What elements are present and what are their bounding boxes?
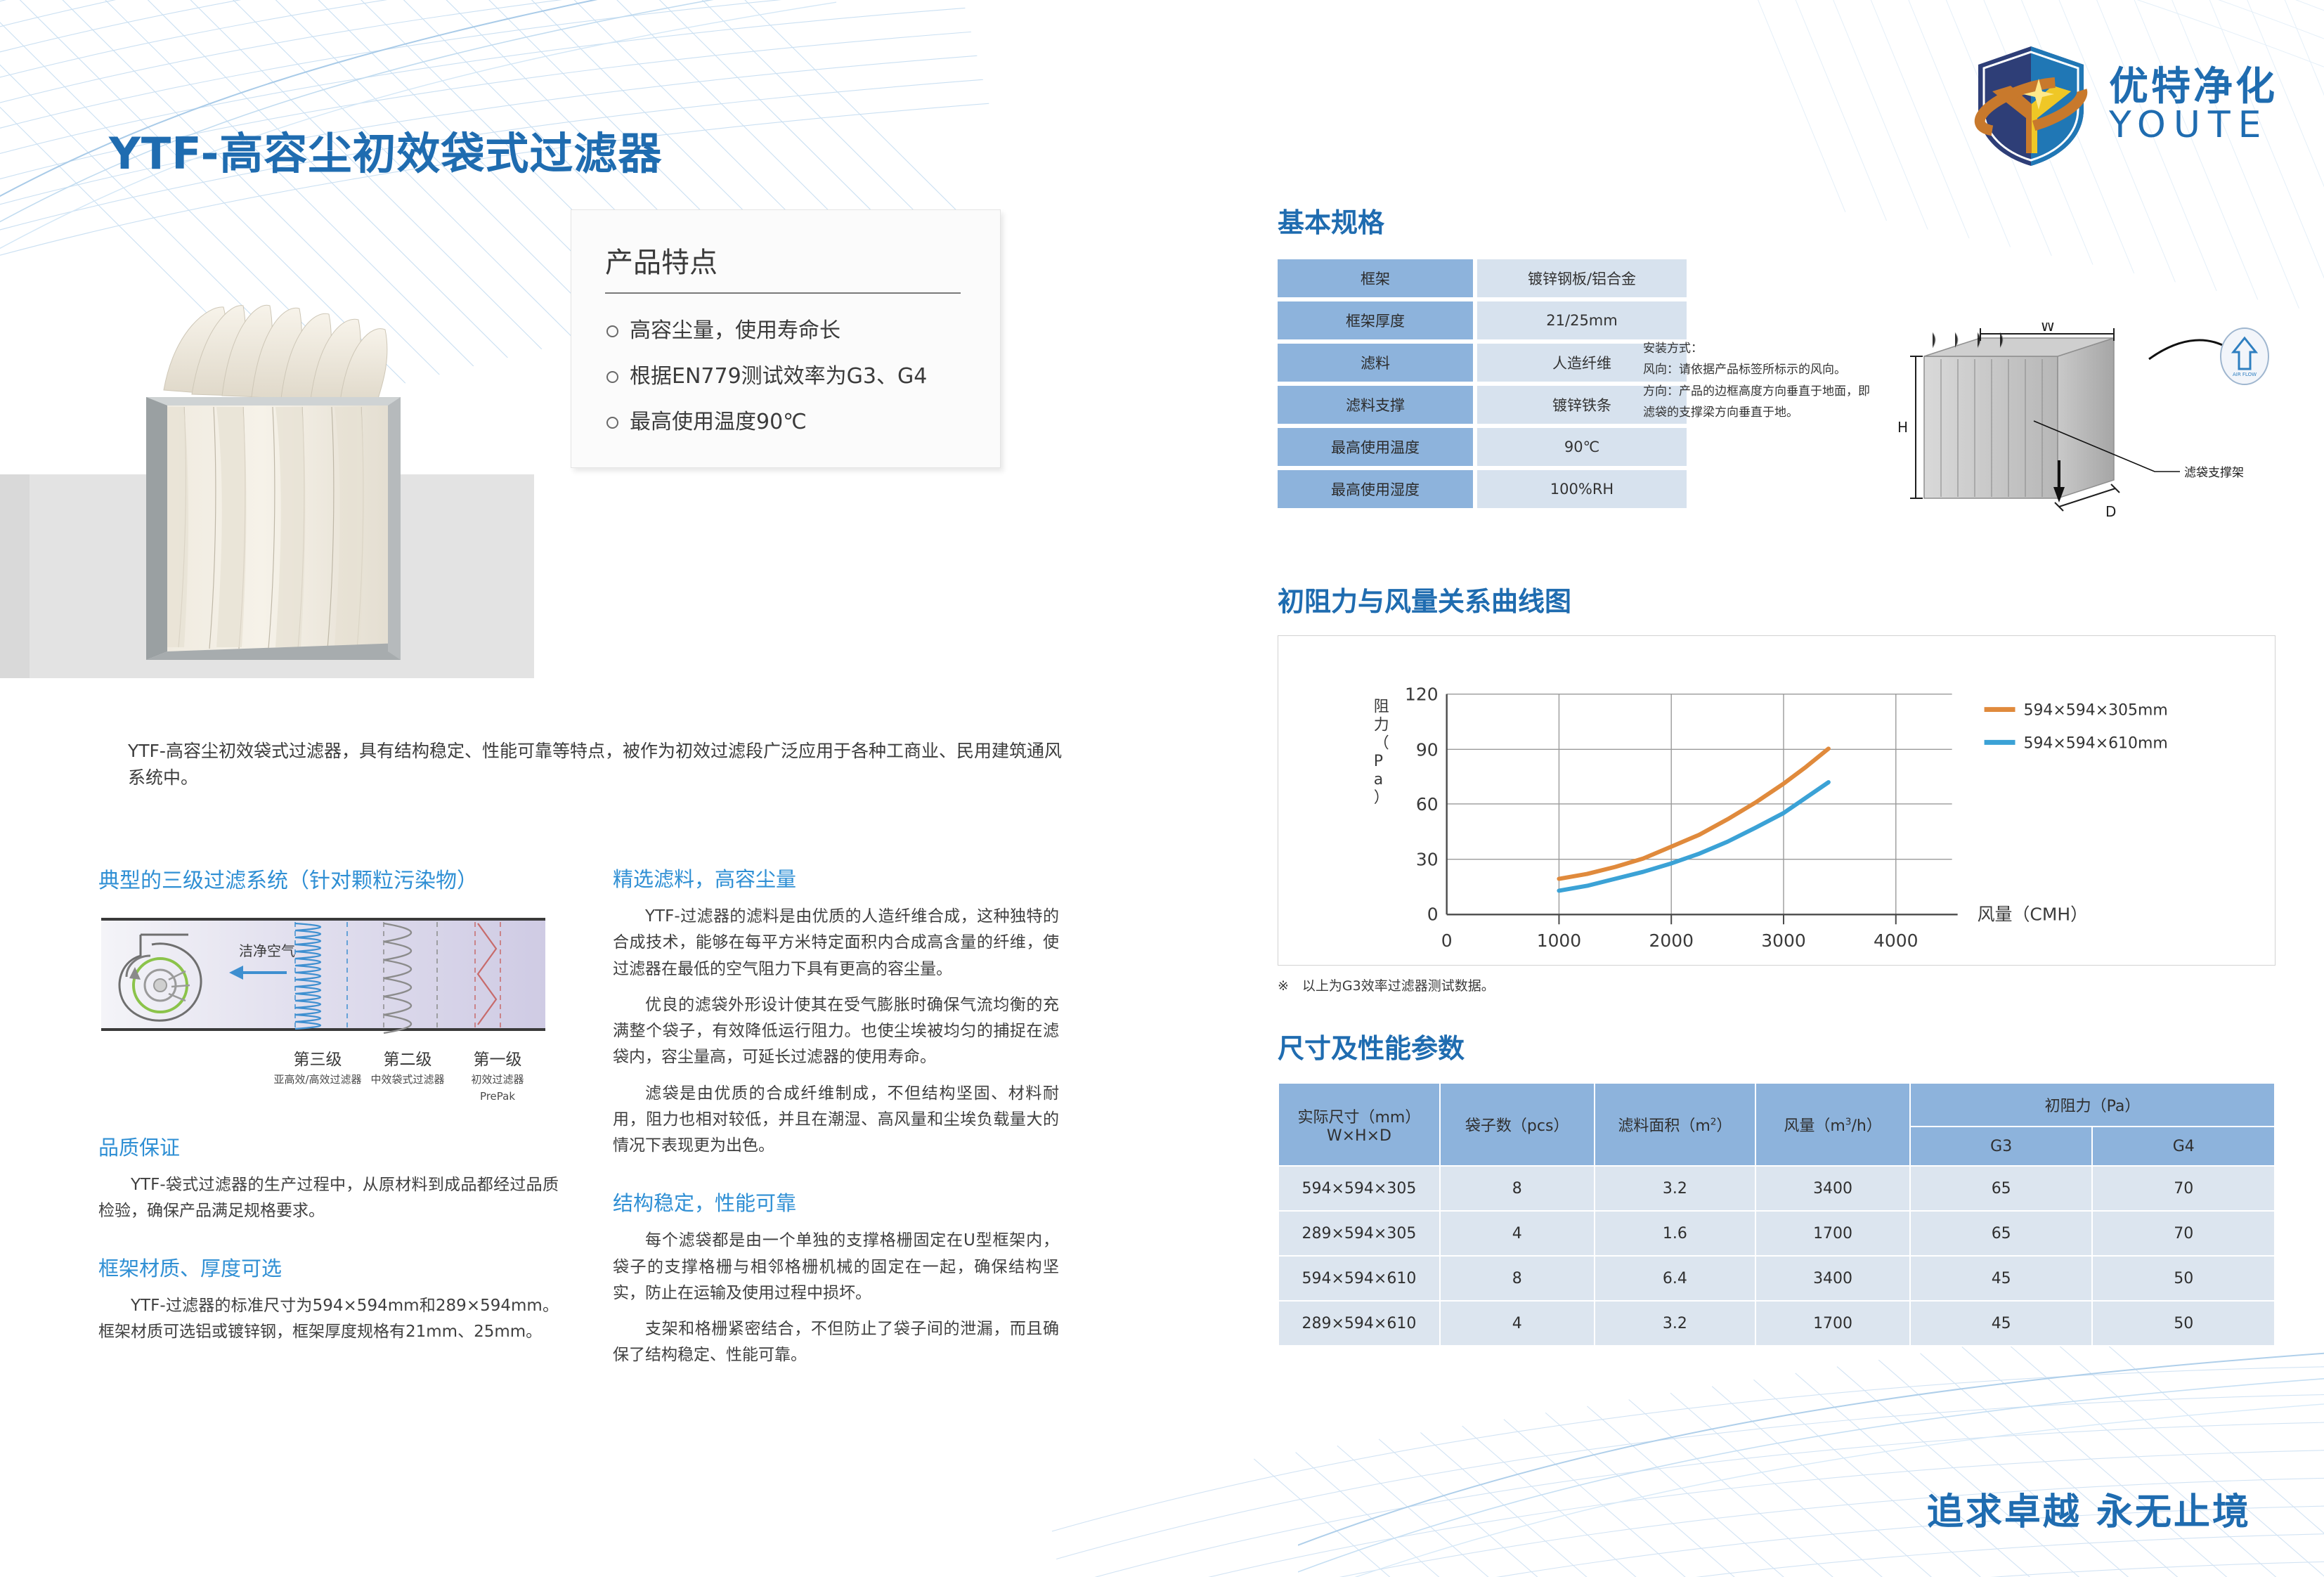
feature-text: 根据EN779测试效率为G3、G4 xyxy=(630,365,927,388)
table-row: 594×594×305 8 3.2 3400 65 70 xyxy=(1278,1166,2275,1211)
svg-text:594×594×610mm: 594×594×610mm xyxy=(2024,734,2168,752)
section-title: 结构稳定，性能可靠 xyxy=(613,1187,1059,1216)
logo-text-en: YOUTE xyxy=(2109,107,2278,144)
cell-bags: 4 xyxy=(1440,1301,1595,1346)
svg-text:0: 0 xyxy=(1441,930,1453,951)
cell-g3: 45 xyxy=(1910,1256,2093,1301)
section-media-selection: 精选滤料，高容尘量 YTF-过滤器的滤料是由优质的人造纤维合成，这种独特的合成技… xyxy=(613,863,1059,1159)
cell-size: 594×594×610 xyxy=(1278,1256,1440,1301)
cell-area: 1.6 xyxy=(1595,1211,1756,1256)
svg-text:风量（CMH）: 风量（CMH） xyxy=(1978,904,2088,924)
cell-bags: 4 xyxy=(1440,1211,1595,1256)
cell-flow: 3400 xyxy=(1755,1256,1910,1301)
spec-value: 镀锌钢板/铝合金 xyxy=(1477,259,1687,297)
cell-g4: 70 xyxy=(2092,1211,2275,1256)
install-line-airflow: 风向：请依据产品标签所标示的风向。 xyxy=(1643,359,1875,380)
cell-area: 3.2 xyxy=(1595,1166,1756,1211)
svg-text:）: ） xyxy=(1374,789,1389,807)
feature-item: 高容尘量，使用寿命长 xyxy=(606,319,1000,342)
svg-text:60: 60 xyxy=(1416,794,1439,815)
svg-text:30: 30 xyxy=(1416,850,1439,870)
th-bags: 袋子数（pcs） xyxy=(1440,1083,1595,1166)
section-title: 框架材质、厚度可选 xyxy=(98,1252,559,1282)
table-row: 框架厚度 21/25mm xyxy=(1278,301,1687,339)
th-resistance: 初阻力（Pa） xyxy=(1910,1083,2275,1127)
chart-title: 初阻力与风量关系曲线图 xyxy=(1278,580,2276,618)
svg-text:W: W xyxy=(2041,323,2055,335)
section-paragraph: YTF-过滤器的滤料是由优质的人造纤维合成，这种独特的合成技术，能够在每平方米特… xyxy=(613,904,1059,982)
cell-size: 289×594×305 xyxy=(1278,1211,1440,1256)
svg-text:1000: 1000 xyxy=(1537,930,1581,951)
spec-key: 滤料 xyxy=(1278,344,1473,382)
logo-text-cn: 优特净化 xyxy=(2109,67,2278,107)
svg-text:阻: 阻 xyxy=(1374,699,1389,716)
cell-g3: 45 xyxy=(1910,1301,2093,1346)
three-stage-filtration-diagram: 洁净空气 xyxy=(98,912,548,1103)
table-row: 289×594×305 4 1.6 1700 65 70 xyxy=(1278,1211,2275,1256)
install-heading: 安装方式： xyxy=(1643,338,1875,359)
cell-g3: 65 xyxy=(1910,1211,2093,1256)
section-quality-assurance: 品质保证 YTF-袋式过滤器的生产过程中，从原材料到成品都经过品质检验，确保产品… xyxy=(98,1131,559,1225)
table-row: 最高使用温度 90℃ xyxy=(1278,428,1687,466)
photo-background-band-edge xyxy=(0,474,30,678)
section-paragraph: YTF-过滤器的标准尺寸为594×594mm和289×594mm。框架材质可选铝… xyxy=(98,1293,559,1346)
svg-text:P: P xyxy=(1374,753,1383,770)
cell-g4: 70 xyxy=(2092,1166,2275,1211)
filter-dimension-diagram: W H D xyxy=(1882,323,2276,547)
stage-label-2: 第二级 中效袋式过滤器 xyxy=(363,1046,453,1103)
svg-text:90: 90 xyxy=(1416,739,1439,760)
svg-text:D: D xyxy=(2105,503,2116,520)
section-structure-stability: 结构稳定，性能可靠 每个滤袋都是由一个单独的支撑格栅固定在U型框架内，袋子的支撑… xyxy=(613,1187,1059,1368)
features-title: 产品特点 xyxy=(605,240,1000,280)
section-paragraph: 滤袋是由优质的合成纤维制成，不但结构坚固、材料耐用，阻力也相对较低，并且在潮湿、… xyxy=(613,1081,1059,1160)
left-column: 典型的三级过滤系统（针对颗粒污染物） xyxy=(98,863,559,1346)
circle-bullet-icon xyxy=(606,417,618,429)
section-frame-material: 框架材质、厚度可选 YTF-过滤器的标准尺寸为594×594mm和289×594… xyxy=(98,1252,559,1346)
cell-g3: 65 xyxy=(1910,1166,2093,1211)
th-g4: G4 xyxy=(2092,1127,2275,1166)
section-paragraph: 优良的滤袋外形设计使其在受气膨胀时确保气流均衡的充满整个袋子，有效降低运行阻力。… xyxy=(613,992,1059,1071)
section-paragraph: 支架和格栅紧密结合，不但防止了袋子间的泄漏，而且确保了结构稳定、性能可靠。 xyxy=(613,1316,1059,1369)
right-column: 基本规格 框架 镀锌钢板/铝合金 框架厚度 21/25mm 滤料 xyxy=(1278,201,2276,1346)
cell-flow: 3400 xyxy=(1755,1166,1910,1211)
spec-key: 滤料支撑 xyxy=(1278,386,1473,424)
middle-column: 精选滤料，高容尘量 YTF-过滤器的滤料是由优质的人造纤维合成，这种独特的合成技… xyxy=(613,863,1059,1369)
section-title: 品质保证 xyxy=(98,1131,559,1161)
section-paragraph: 每个滤袋都是由一个单独的支撑格栅固定在U型框架内，袋子的支撑格栅与相邻格栅机械的… xyxy=(613,1228,1059,1306)
basic-spec-title: 基本规格 xyxy=(1278,201,2276,240)
install-line-orientation: 方向：产品的边框高度方向垂直于地面，即滤袋的支撑梁方向垂直于地。 xyxy=(1643,381,1875,424)
feature-text: 最高使用温度90℃ xyxy=(630,410,807,434)
th-size: 实际尺寸（mm） W×H×D xyxy=(1278,1083,1440,1166)
section-paragraph: YTF-袋式过滤器的生产过程中，从原材料到成品都经过品质检验，确保产品满足规格要… xyxy=(98,1172,559,1225)
cell-bags: 8 xyxy=(1440,1166,1595,1211)
svg-text:4000: 4000 xyxy=(1874,930,1918,951)
brand-logo: 优特净化 YOUTE xyxy=(1971,42,2278,169)
airflow-badge-label: AIR FLOW xyxy=(2233,372,2257,377)
table-row: 滤料 人造纤维 xyxy=(1278,344,1687,382)
cell-g4: 50 xyxy=(2092,1301,2275,1346)
svg-text:2000: 2000 xyxy=(1649,930,1693,951)
perf-table-title: 尺寸及性能参数 xyxy=(1278,1027,2276,1065)
spec-key: 最高使用温度 xyxy=(1278,428,1473,466)
footer-tagline: 追求卓越 永无止境 xyxy=(1927,1482,2251,1535)
cell-bags: 8 xyxy=(1440,1256,1595,1301)
svg-text:a: a xyxy=(1374,771,1383,788)
spec-key: 框架厚度 xyxy=(1278,301,1473,339)
table-row: 滤料支撑 镀锌铁条 xyxy=(1278,386,1687,424)
three-stage-diagram-title: 典型的三级过滤系统（针对颗粒污染物） xyxy=(98,863,559,894)
cell-g4: 50 xyxy=(2092,1256,2275,1301)
svg-text:0: 0 xyxy=(1427,904,1439,924)
page-title: YTF-高容尘初效袋式过滤器 xyxy=(109,118,662,181)
table-header-row: 实际尺寸（mm） W×H×D 袋子数（pcs） 滤料面积（m2） 风量（m3/h… xyxy=(1278,1083,2275,1127)
stage-label-1: 第一级 初效过滤器 PrePak xyxy=(453,1046,543,1103)
installation-instructions: 安装方式： 风向：请依据产品标签所标示的风向。 方向：产品的边框高度方向垂直于地… xyxy=(1643,323,2276,554)
svg-text:594×594×305mm: 594×594×305mm xyxy=(2024,702,2168,720)
svg-text:力: 力 xyxy=(1374,716,1389,734)
svg-text:H: H xyxy=(1897,419,1908,436)
spec-key: 框架 xyxy=(1278,259,1473,297)
product-photo xyxy=(125,292,424,675)
table-row: 594×594×610 8 6.4 3400 45 50 xyxy=(1278,1256,2275,1301)
support-frame-callout-label: 滤袋支撑架 xyxy=(2184,466,2244,480)
intro-paragraph: YTF-高容尘初效袋式过滤器，具有结构稳定、性能可靠等特点，被作为初效过滤段广泛… xyxy=(128,738,1063,791)
svg-text:洁净空气: 洁净空气 xyxy=(239,942,295,959)
th-flow: 风量（m3/h） xyxy=(1755,1083,1910,1166)
stage-label-3: 第三级 亚高效/高效过滤器 xyxy=(273,1046,363,1103)
product-features-card: 产品特点 高容尘量，使用寿命长 根据EN779测试效率为G3、G4 最高使用温度… xyxy=(571,209,1001,468)
basic-spec-table: 框架 镀锌钢板/铝合金 框架厚度 21/25mm 滤料 人造纤维 xyxy=(1278,255,1687,512)
resistance-airflow-chart: 12090 6030 0 01000 20003000 4000 阻 力 （ P… xyxy=(1278,635,2276,966)
spec-key: 最高使用湿度 xyxy=(1278,470,1473,508)
features-list: 高容尘量，使用寿命长 根据EN779测试效率为G3、G4 最高使用温度90℃ xyxy=(606,319,1000,434)
table-row: 289×594×610 4 3.2 1700 45 50 xyxy=(1278,1301,2275,1346)
features-divider xyxy=(605,292,961,294)
feature-text: 高容尘量，使用寿命长 xyxy=(630,319,840,342)
th-g3: G3 xyxy=(1910,1127,2093,1166)
feature-item: 最高使用温度90℃ xyxy=(606,410,1000,434)
decorative-swoosh-bottom-right xyxy=(1298,1324,2324,1577)
svg-text:120: 120 xyxy=(1405,684,1439,705)
cell-size: 594×594×305 xyxy=(1278,1166,1440,1211)
chart-legend: 594×594×305mm 594×594×610mm xyxy=(1985,702,2168,753)
chart-note: ※ 以上为G3效率过滤器测试数据。 xyxy=(1278,975,2276,994)
svg-text:3000: 3000 xyxy=(1761,930,1805,951)
table-row: 最高使用湿度 100%RH xyxy=(1278,470,1687,508)
circle-bullet-icon xyxy=(606,325,618,337)
shield-logo-icon xyxy=(1971,42,2091,169)
feature-item: 根据EN779测试效率为G3、G4 xyxy=(606,365,1000,388)
cell-area: 6.4 xyxy=(1595,1256,1756,1301)
svg-text:（: （ xyxy=(1374,734,1389,752)
th-area: 滤料面积（m2） xyxy=(1595,1083,1756,1166)
circle-bullet-icon xyxy=(606,371,618,383)
cell-flow: 1700 xyxy=(1755,1301,1910,1346)
cell-flow: 1700 xyxy=(1755,1211,1910,1256)
performance-parameters-table: 实际尺寸（mm） W×H×D 袋子数（pcs） 滤料面积（m2） 风量（m3/h… xyxy=(1278,1082,2276,1346)
table-row: 框架 镀锌钢板/铝合金 xyxy=(1278,259,1687,297)
section-title: 精选滤料，高容尘量 xyxy=(613,863,1059,893)
cell-area: 3.2 xyxy=(1595,1301,1756,1346)
cell-size: 289×594×610 xyxy=(1278,1301,1440,1346)
datasheet-page: YTF-高容尘初效袋式过滤器 优特净化 YOUTE xyxy=(0,0,2324,1577)
